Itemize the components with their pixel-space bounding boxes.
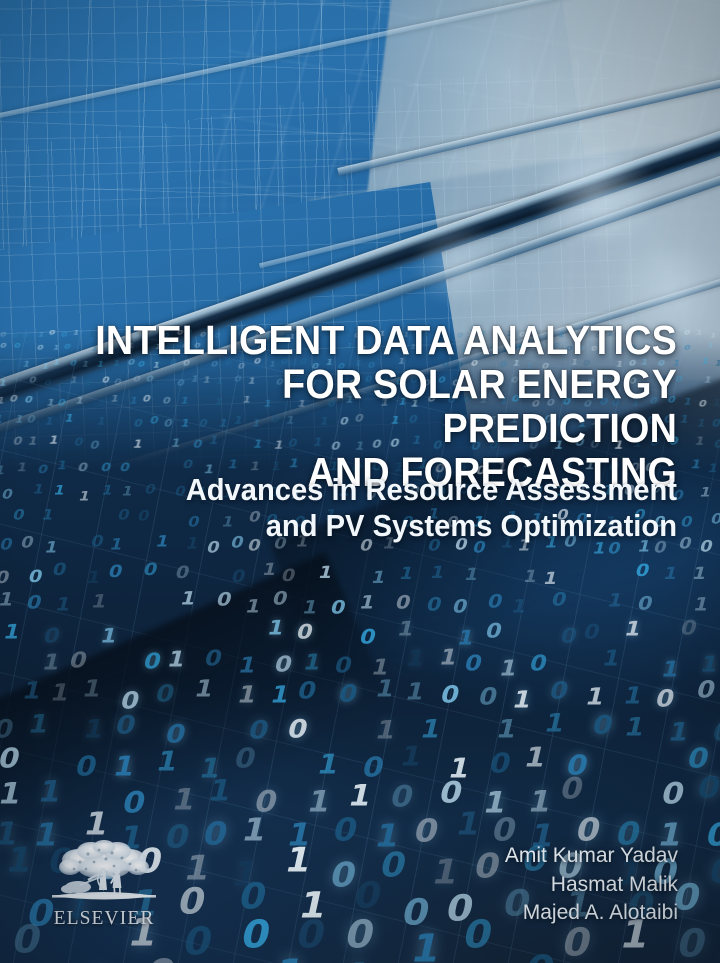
binary-digit: 1 [40, 652, 62, 674]
binary-digit: 0 [285, 717, 310, 742]
binary-digit: 1 [642, 959, 680, 963]
binary-digit: 0 [394, 593, 413, 611]
binary-digit: 0 [558, 775, 587, 804]
binary-digit: 1 [179, 589, 198, 607]
publisher-logo: ELSEVIER [44, 838, 164, 929]
binary-digit: 0 [51, 561, 69, 578]
binary-digit: 0 [67, 650, 89, 672]
binary-digit: 1 [622, 619, 643, 639]
binary-digit: 0 [527, 653, 549, 675]
binary-digit: 1 [373, 718, 398, 743]
binary-digit: 0 [357, 628, 378, 648]
binary-digit: 1 [317, 564, 335, 581]
binary-digit: 1 [408, 931, 444, 963]
binary-digit: 1 [691, 596, 710, 614]
binary-digit: 1 [36, 778, 65, 807]
binary-digit: 0 [162, 821, 192, 853]
binary-digit: 1 [542, 711, 567, 736]
title-block: INTELLIGENT DATA ANALYTICS FOR SOLAR ENE… [0, 318, 720, 494]
binary-digit: 0 [142, 954, 180, 963]
binary-digit: 0 [203, 648, 225, 670]
binary-digit: 1 [81, 808, 111, 840]
binary-digit: 1 [497, 658, 519, 680]
binary-digit: 0 [0, 745, 23, 772]
book-cover: 1011010110010010000001011000001001010000… [0, 0, 720, 963]
binary-digit: 1 [80, 678, 104, 702]
binary-digit: 0 [704, 819, 720, 851]
binary-digit: 1 [403, 681, 427, 705]
subtitle-line-2: and PV Systems Optimization [41, 508, 677, 544]
binary-digit: 0 [679, 618, 700, 638]
binary-digit: 1 [542, 570, 560, 587]
binary-digit: 1 [418, 717, 443, 742]
binary-digit: 0 [113, 713, 138, 738]
binary-digit: 0 [388, 783, 417, 812]
binary-digit: 1 [0, 590, 16, 608]
binary-digit: 1 [0, 780, 24, 809]
binary-digit: 0 [294, 622, 315, 642]
subtitle-line-1: Advances in Resource Assessment [41, 472, 677, 508]
binary-digit: 1 [453, 808, 483, 840]
binary-digit: 1 [81, 717, 106, 742]
binary-digit: 0 [490, 813, 520, 845]
binary-digit: 1 [301, 652, 323, 674]
binary-digit: 0 [232, 745, 259, 772]
binary-digit: 0 [0, 718, 16, 743]
binary-digit: 1 [48, 682, 72, 706]
panel-reflection-glow [520, 150, 670, 240]
binary-digit: 0 [200, 817, 230, 849]
binary-digit: 0 [634, 562, 652, 579]
binary-digit: 0 [296, 680, 320, 704]
binary-digit: 0 [107, 563, 125, 580]
binary-digit: 0 [654, 688, 678, 712]
binary-digit: 0 [0, 570, 12, 587]
binary-digit: 1 [396, 619, 417, 639]
binary-digit: 0 [230, 568, 248, 585]
binary-digit: 0 [437, 779, 466, 808]
publisher-wordmark: ELSEVIER [44, 909, 164, 929]
binary-digit: 0 [635, 594, 654, 612]
binary-digit: 1 [166, 649, 188, 671]
binary-digit: 0 [694, 679, 718, 703]
binary-digit: 1 [265, 618, 286, 638]
author-block: Amit Kumar Yadav Hasmat Malik Majed A. A… [258, 842, 678, 928]
binary-digit: 1 [268, 684, 292, 708]
binary-digit: 1 [494, 717, 519, 742]
binary-digit: 1 [511, 689, 535, 713]
binary-digit: 1 [89, 592, 108, 610]
title-line-1: INTELLIGENT DATA ANALYTICS [54, 318, 677, 362]
binary-digit: 0 [581, 622, 602, 642]
binary-digit: 1 [243, 597, 262, 615]
binary-digit: 0 [558, 626, 579, 646]
binary-digit: 0 [706, 855, 720, 889]
author-name-1: Amit Kumar Yadav [258, 842, 678, 871]
binary-digit: 0 [175, 884, 209, 920]
binary-digit: 1 [583, 686, 607, 710]
binary-digit: 0 [180, 923, 216, 962]
binary-digit: 1 [235, 684, 259, 708]
binary-digit: 0 [521, 950, 559, 963]
binary-digit: 0 [476, 686, 500, 710]
binary-digit: 0 [329, 598, 348, 616]
elsevier-tree-icon [44, 838, 164, 908]
binary-digit: 1 [0, 956, 9, 963]
binary-digit: 1 [337, 959, 375, 963]
title-line-2: FOR SOLAR ENERGY PREDICTION [54, 362, 677, 450]
binary-digit: 0 [483, 621, 504, 641]
binary-digit: 0 [695, 774, 720, 803]
binary-digit: 0 [451, 597, 470, 615]
binary-digit: 0 [9, 922, 45, 961]
binary-digit: 1 [510, 597, 529, 615]
binary-digit: 0 [42, 626, 63, 646]
author-name-2: Hasmat Malik [258, 871, 678, 900]
binary-digit: 1 [659, 659, 681, 681]
binary-digit: 1 [370, 569, 388, 586]
binary-digit: 1 [346, 782, 375, 811]
binary-digit: 0 [360, 754, 387, 781]
binary-digit: 0 [550, 590, 569, 608]
binary-digit: 1 [20, 680, 44, 704]
binary-digit: 0 [73, 753, 100, 780]
binary-digit: 1 [398, 743, 425, 770]
binary-digit: 1 [521, 568, 539, 585]
binary-digit: 0 [486, 592, 505, 610]
binary-digit: 0 [280, 567, 298, 584]
binary-digit: 1 [691, 566, 709, 583]
subtitle-block: Advances in Resource Assessment and PV S… [0, 472, 720, 544]
binary-digit: 1 [526, 788, 555, 817]
binary-digit: 1 [358, 593, 377, 611]
binary-digit: 1 [621, 685, 645, 709]
binary-digit: 0 [658, 780, 687, 809]
binary-digit: 0 [558, 924, 594, 963]
binary-digit: 1 [600, 648, 622, 670]
binary-digit: 0 [547, 680, 571, 704]
binary-digit: 1 [666, 720, 691, 745]
binary-digit: 1 [398, 565, 416, 582]
binary-digit: 0 [272, 654, 294, 676]
binary-digit: 1 [463, 566, 481, 583]
binary-digit: 1 [437, 647, 459, 669]
binary-digit: 1 [261, 561, 279, 578]
binary-digit: 0 [573, 814, 603, 846]
binary-digit: 1 [605, 591, 624, 609]
binary-digit: 0 [487, 750, 514, 777]
binary-digit: 1 [170, 786, 199, 815]
binary-digit: 1 [662, 565, 680, 582]
binary-digit: 0 [142, 651, 164, 673]
binary-digit: 1 [26, 712, 51, 737]
binary-digit: 0 [25, 593, 44, 611]
binary-digit: 1 [305, 788, 334, 817]
binary-digit: 0 [163, 722, 188, 747]
binary-digit: 1 [1, 622, 22, 642]
binary-digit: 0 [27, 568, 45, 585]
binary-digit: 0 [590, 714, 615, 739]
panel-reflection-glow [400, 230, 520, 300]
binary-digit: 1 [522, 744, 549, 771]
binary-digit: 1 [98, 626, 119, 646]
binary-digit: 0 [438, 684, 462, 708]
binary-digit: 1 [405, 648, 427, 670]
binary-digit: 0 [331, 813, 361, 845]
binary-digit: 1 [237, 655, 259, 677]
binary-digit: 1 [301, 598, 320, 616]
binary-digit: 1 [240, 814, 270, 846]
binary-digit: 0 [142, 561, 160, 578]
binary-digit: 1 [54, 595, 73, 613]
binary-digit: 1 [315, 751, 342, 778]
binary-digit: 1 [153, 748, 180, 775]
binary-digit: 1 [698, 654, 720, 676]
binary-digit: 0 [462, 653, 484, 675]
binary-digit: 0 [332, 655, 354, 677]
binary-digit: 1 [271, 954, 309, 963]
binary-digit: 0 [119, 789, 148, 818]
binary-digit: 0 [174, 564, 192, 581]
binary-digit: 1 [622, 716, 647, 741]
binary-digit: 0 [271, 589, 290, 607]
binary-digit: 0 [214, 590, 233, 608]
binary-digit: 1 [85, 570, 103, 587]
binary-digit: 0 [684, 745, 711, 772]
binary-digit: 0 [336, 683, 360, 707]
binary-digit: 0 [425, 595, 444, 613]
author-name-3: Majed A. Alotaibi [258, 899, 678, 928]
binary-digit: 1 [111, 753, 138, 780]
binary-digit: 1 [429, 564, 447, 581]
binary-digit: 0 [153, 683, 177, 707]
binary-digit: 1 [373, 678, 397, 702]
binary-digit: 0 [246, 718, 271, 743]
binary-digit: 1 [192, 678, 216, 702]
